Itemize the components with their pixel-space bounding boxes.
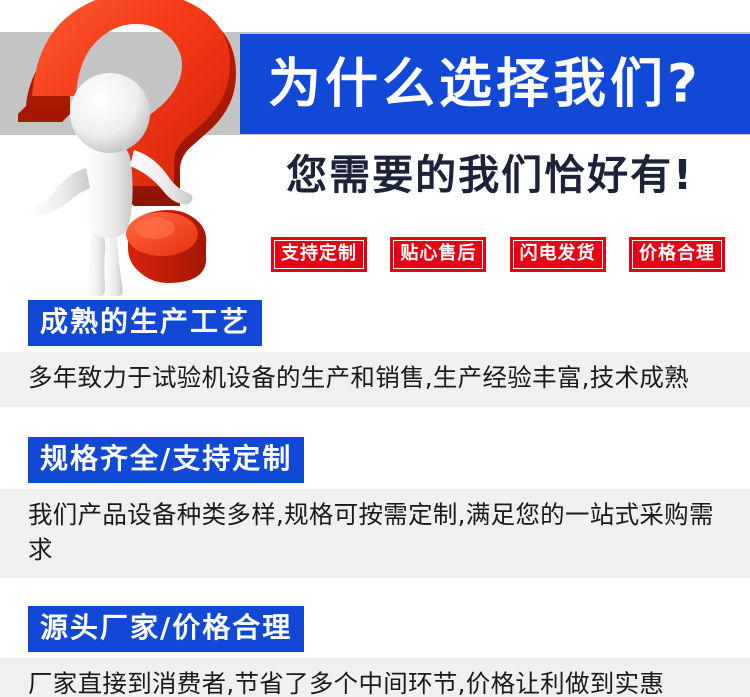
feature-section: 源头厂家/价格合理 厂家直接到消费者,节省了多个中间环节,价格让利做到实惠 [0, 606, 750, 697]
headline-banner: 为什么选择我们? [240, 34, 750, 134]
feature-section: 规格齐全/支持定制 我们产品设备种类多样,规格可按需定制,满足您的一站式采购需求 [0, 437, 750, 579]
section-body-text: 我们产品设备种类多样,规格可按需定制,满足您的一站式采购需求 [0, 489, 750, 579]
section-spacer [0, 407, 750, 437]
promo-poster: 为什么选择我们? 您需要的我们恰好有! 支持定制 贴心售后 闪电发货 价格合理 [0, 0, 750, 697]
headline-text: 为什么选择我们? [268, 58, 702, 111]
feature-sections: 成熟的生产工艺 多年致力于试验机设备的生产和销售,生产经验丰富,技术成熟 规格齐… [0, 300, 750, 697]
subheadline-text: 您需要的我们恰好有! [240, 152, 740, 199]
feature-badge: 贴心售后 [391, 238, 485, 271]
section-spacer [0, 578, 750, 606]
feature-badge: 价格合理 [630, 238, 724, 271]
feature-badge: 闪电发货 [511, 238, 605, 271]
section-heading: 规格齐全/支持定制 [28, 437, 304, 483]
section-heading: 源头厂家/价格合理 [28, 606, 304, 652]
section-body-text: 厂家直接到消费者,节省了多个中间环节,价格让利做到实惠 [0, 658, 750, 697]
feature-section: 成熟的生产工艺 多年致力于试验机设备的生产和销售,生产经验丰富,技术成熟 [0, 300, 750, 407]
question-mark-illustration [0, 0, 245, 300]
feature-badge: 支持定制 [272, 238, 366, 271]
hero-section: 为什么选择我们? 您需要的我们恰好有! 支持定制 贴心售后 闪电发货 价格合理 [0, 0, 750, 300]
section-body-text: 多年致力于试验机设备的生产和销售,生产经验丰富,技术成熟 [0, 352, 750, 407]
section-heading: 成熟的生产工艺 [28, 300, 262, 346]
feature-badge-row: 支持定制 贴心售后 闪电发货 价格合理 [272, 238, 724, 271]
